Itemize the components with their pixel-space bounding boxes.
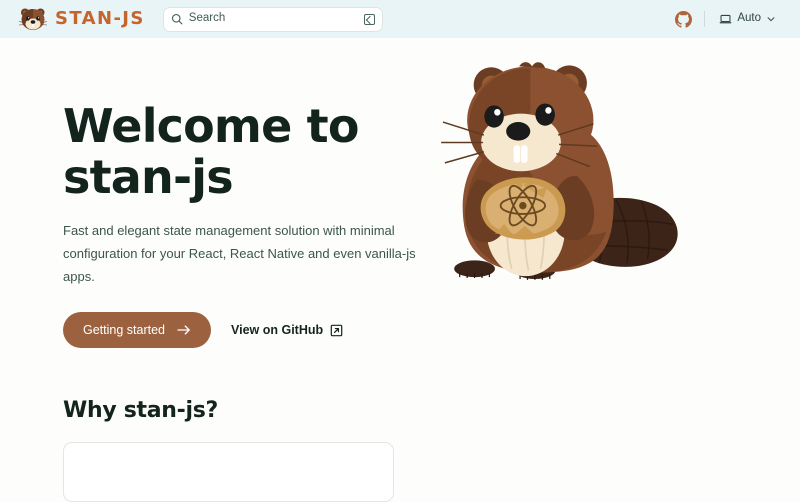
hero-section: Welcome to stan-js Fast and elegant stat…: [0, 38, 800, 388]
hero-actions: Getting started View on GitHub: [63, 312, 420, 348]
page-title: Welcome to stan-js: [63, 101, 420, 203]
github-icon-link[interactable]: [672, 8, 694, 30]
why-section-title: Why stan-js?: [0, 398, 800, 423]
view-on-github-label: View on GitHub: [231, 323, 323, 337]
hero-content: Welcome to stan-js Fast and elegant stat…: [0, 38, 420, 348]
search-input[interactable]: Search: [163, 7, 383, 32]
header-divider: [704, 11, 705, 27]
github-icon: [675, 11, 692, 28]
arrow-right-icon: [177, 324, 191, 336]
getting-started-button[interactable]: Getting started: [63, 312, 211, 348]
view-on-github-link[interactable]: View on GitHub: [231, 323, 343, 337]
keyboard-shortcut-badge: [364, 14, 375, 25]
external-link-icon: [330, 324, 343, 337]
brand-logo-link[interactable]: STAN-JS: [18, 6, 145, 32]
beaver-head-icon: [18, 6, 48, 32]
feature-card[interactable]: [63, 442, 394, 502]
getting-started-label: Getting started: [83, 323, 165, 337]
site-header: STAN-JS Search Auto: [0, 0, 800, 38]
header-actions: Auto: [672, 8, 788, 30]
brand-name: STAN-JS: [55, 10, 145, 28]
why-section: Why stan-js?: [0, 398, 800, 502]
search-placeholder: Search: [189, 13, 358, 25]
laptop-icon: [719, 13, 732, 26]
beaver-mascot-illustration: [430, 48, 690, 288]
chevron-down-icon: [766, 14, 776, 24]
search-icon: [171, 13, 183, 25]
hero-illustration-wrap: [420, 38, 800, 338]
theme-selector[interactable]: Auto: [715, 10, 780, 29]
theme-label: Auto: [737, 13, 761, 25]
hero-subtitle: Fast and elegant state management soluti…: [63, 219, 420, 288]
